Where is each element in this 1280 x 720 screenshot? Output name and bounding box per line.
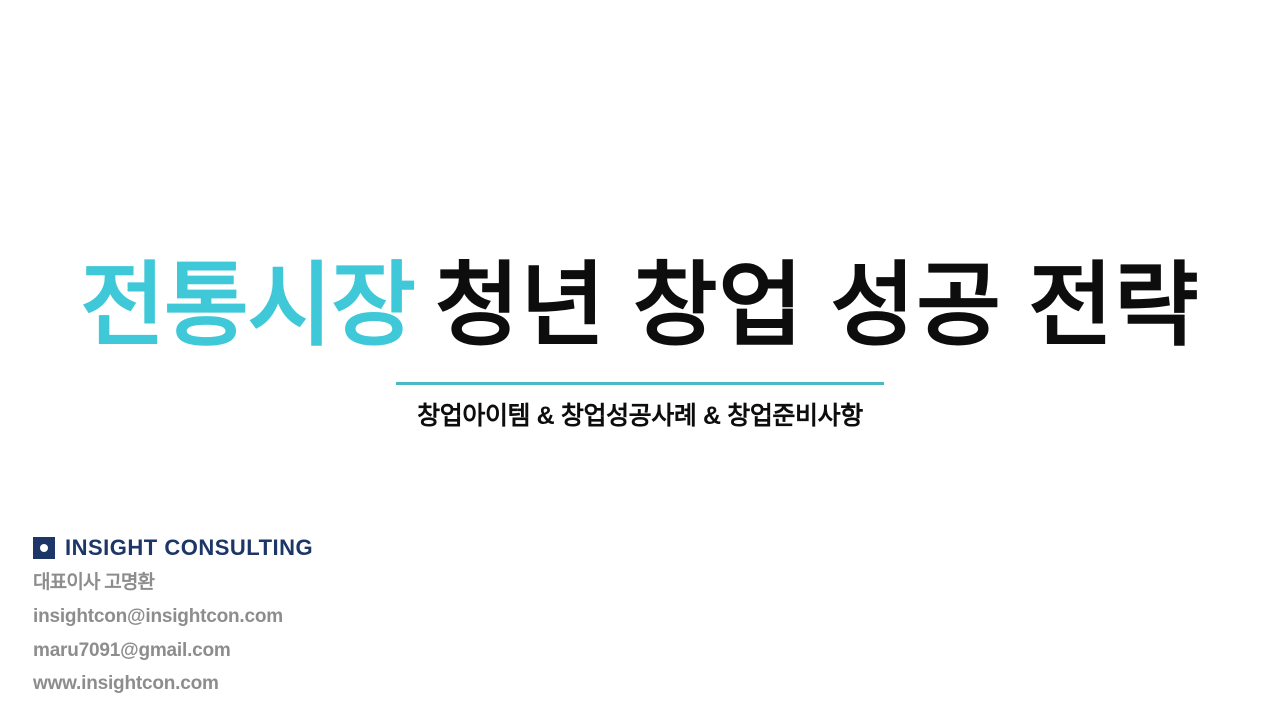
page-title: 전통시장청년 창업 성공 전략 <box>0 258 1280 356</box>
square-dot-logo-icon <box>33 537 55 559</box>
contact-line-website[interactable]: www.insightcon.com <box>33 672 453 696</box>
subtitle-container: 창업아이템 & 창업성공사례 & 창업준비사항 <box>0 396 1280 432</box>
title-block: 전통시장청년 창업 성공 전략 <box>0 258 1280 356</box>
title-divider-container <box>0 381 1280 385</box>
contact-line-email-personal[interactable]: maru7091@gmail.com <box>33 639 453 663</box>
title-divider-line <box>396 382 884 385</box>
contact-line-email-company[interactable]: insightcon@insightcon.com <box>33 605 453 629</box>
footer-contact-block: INSIGHT CONSULTING 대표이사 고명환 insightcon@i… <box>33 536 453 696</box>
title-main-words: 청년 창업 성공 전략 <box>435 255 1200 357</box>
logo-inner-dot <box>40 544 48 552</box>
brand-row: INSIGHT CONSULTING <box>33 536 453 560</box>
presentation-title-slide: 전통시장청년 창업 성공 전략 창업아이템 & 창업성공사례 & 창업준비사항 … <box>0 0 1280 720</box>
brand-name: INSIGHT CONSULTING <box>65 535 313 561</box>
contact-line-representative: 대표이사 고명환 <box>33 571 453 595</box>
page-subtitle: 창업아이템 & 창업성공사례 & 창업준비사항 <box>0 396 1280 432</box>
title-accent-word: 전통시장 <box>80 255 415 357</box>
